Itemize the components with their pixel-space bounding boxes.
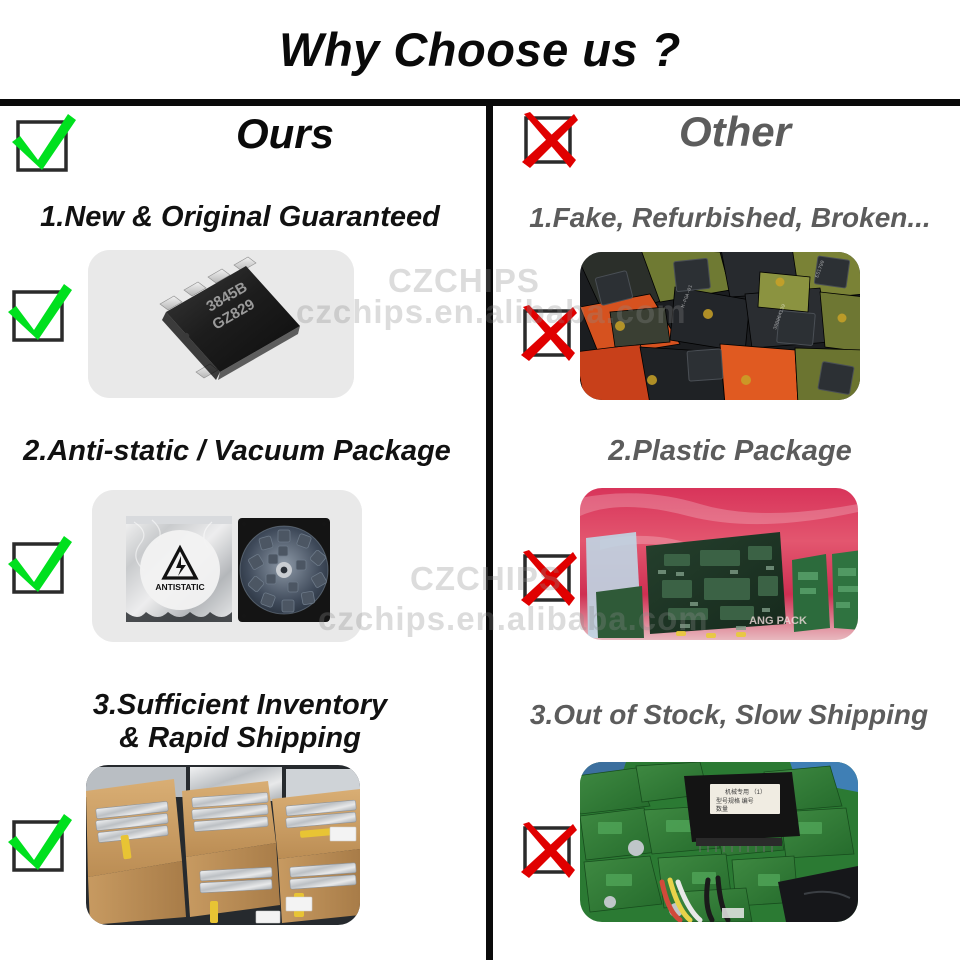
ours-item-3-photo xyxy=(86,765,360,925)
red-cross-icon xyxy=(517,820,579,882)
column-header-ours: Ours xyxy=(170,110,400,158)
other-item-1-photo: M-PGA-01 300064139 ES1790 xyxy=(580,252,860,400)
red-cross-icon xyxy=(518,110,580,172)
ours-item-2-photo: ANTISTATIC xyxy=(92,490,362,642)
green-check-icon xyxy=(4,808,76,874)
antistatic-bag-label: ANTISTATIC xyxy=(155,582,204,592)
green-check-icon xyxy=(4,278,76,344)
other-item-2-heading: 2.Plastic Package xyxy=(500,436,960,467)
svg-text:数量: 数量 xyxy=(716,805,728,813)
other-item-3-photo: 机械专用 （1） 型号规格 编号 数量 xyxy=(580,762,858,922)
column-divider-vertical xyxy=(486,106,493,960)
watermark-brand-top: CZCHIPS xyxy=(388,262,540,300)
other-item-1-heading: 1.Fake, Refurbished, Broken... xyxy=(500,203,960,233)
ours-item-3-heading-line1: 3.Sufficient Inventory xyxy=(10,690,470,721)
ours-item-3-heading-line2: & Rapid Shipping xyxy=(10,723,470,754)
ours-item-2-heading: 2.Anti-static / Vacuum Package xyxy=(2,436,472,467)
green-check-icon xyxy=(8,108,80,174)
other-item-3-heading: 3.Out of Stock, Slow Shipping xyxy=(498,700,960,730)
svg-text:型号规格 编号: 型号规格 编号 xyxy=(716,797,754,805)
page-title: Why Choose us ? xyxy=(0,22,960,77)
green-check-icon xyxy=(4,530,76,596)
red-cross-icon xyxy=(517,548,579,610)
header-divider-horizontal xyxy=(0,99,960,106)
ours-item-1-photo: 3845B GZ829 xyxy=(88,250,354,398)
svg-text:ANG PACK: ANG PACK xyxy=(749,615,807,627)
svg-text:机械专用 （1）: 机械专用 （1） xyxy=(725,788,766,796)
other-item-2-photo: ANG PACK xyxy=(580,488,858,640)
column-header-other: Other xyxy=(620,108,850,156)
ours-item-1-heading: 1.New & Original Guaranteed xyxy=(10,202,470,233)
red-cross-icon xyxy=(517,303,579,365)
